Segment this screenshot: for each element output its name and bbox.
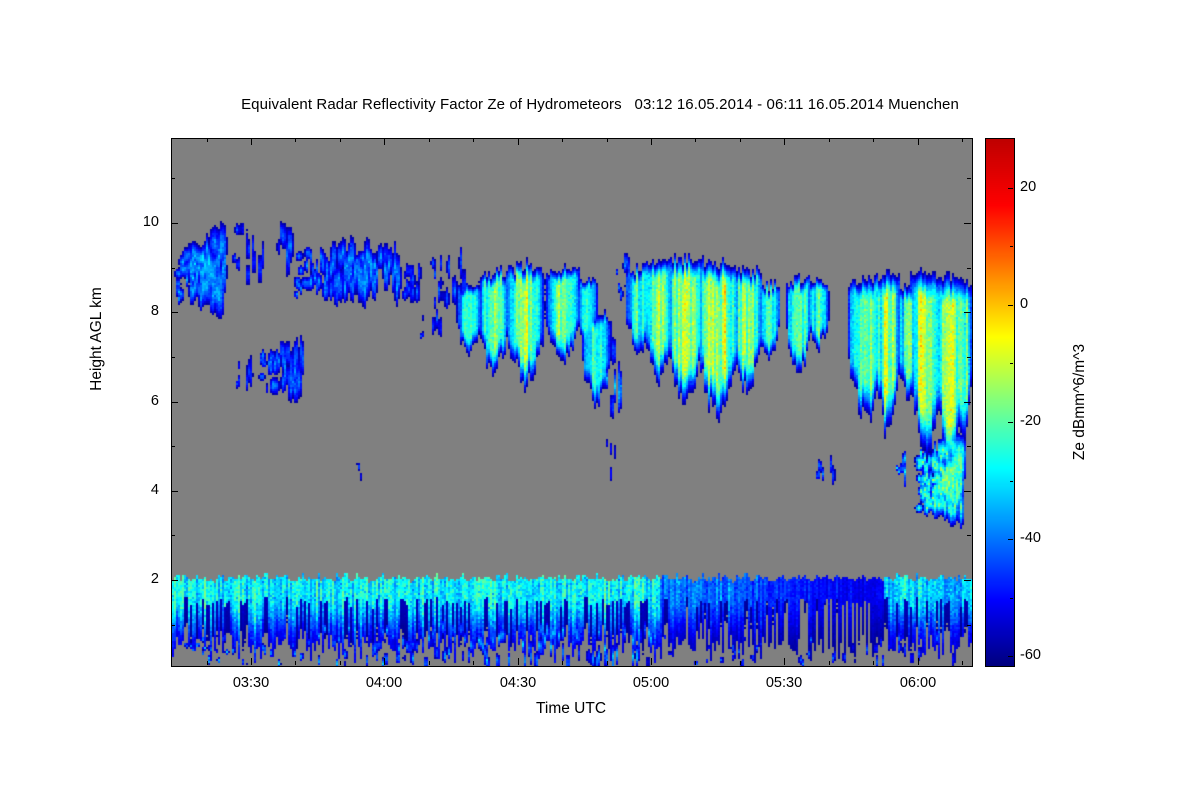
x-tick-major-top (251, 138, 252, 145)
colorbar-gradient (986, 139, 1014, 666)
colorbar-tick-minor (1010, 598, 1013, 599)
x-tick-major (784, 658, 785, 665)
y-tick-minor (171, 446, 175, 447)
y-tick-major (171, 223, 178, 224)
x-tick-major (918, 658, 919, 665)
x-tick-minor (607, 661, 608, 665)
x-tick-label: 04:30 (473, 675, 563, 691)
colorbar-label: Ze dBmm^6/m^3 (1071, 272, 1089, 532)
y-tick-minor-right (967, 446, 971, 447)
x-tick-minor (340, 661, 341, 665)
x-tick-major (384, 658, 385, 665)
x-tick-minor-top (473, 138, 474, 142)
x-tick-minor (962, 661, 963, 665)
x-tick-label: 05:30 (739, 675, 829, 691)
x-tick-minor-top (962, 138, 963, 142)
x-tick-minor (429, 661, 430, 665)
x-tick-label: 04:00 (339, 675, 429, 691)
radar-heatmap-canvas (172, 139, 972, 666)
x-tick-minor-top (429, 138, 430, 142)
y-tick-label: 2 (119, 571, 159, 587)
colorbar-tick-label: 0 (1020, 296, 1028, 312)
colorbar-tick-label: -40 (1020, 530, 1041, 546)
x-tick-major-top (384, 138, 385, 145)
x-tick-minor-top (562, 138, 563, 142)
colorbar (985, 138, 1015, 667)
colorbar-tick (1008, 188, 1013, 189)
x-tick-minor (873, 661, 874, 665)
y-tick-minor (171, 178, 175, 179)
x-tick-major-top (784, 138, 785, 145)
x-tick-major-top (651, 138, 652, 145)
x-tick-minor (740, 661, 741, 665)
colorbar-tick-minor (1010, 481, 1013, 482)
x-tick-minor (562, 661, 563, 665)
y-tick-major-right (964, 312, 971, 313)
colorbar-tick (1008, 305, 1013, 306)
y-tick-major-right (964, 580, 971, 581)
colorbar-tick (1008, 539, 1013, 540)
x-tick-major-top (918, 138, 919, 145)
x-tick-major (651, 658, 652, 665)
x-tick-minor-top (340, 138, 341, 142)
x-tick-minor (295, 661, 296, 665)
y-tick-label: 6 (119, 393, 159, 409)
colorbar-tick-minor (1010, 363, 1013, 364)
y-tick-minor (171, 268, 175, 269)
y-tick-minor-right (967, 535, 971, 536)
x-tick-minor-top (829, 138, 830, 142)
y-tick-minor-right (967, 178, 971, 179)
x-tick-minor-top (295, 138, 296, 142)
y-tick-major (171, 491, 178, 492)
x-tick-label: 03:30 (206, 675, 296, 691)
y-tick-minor-right (967, 268, 971, 269)
x-tick-minor-top (607, 138, 608, 142)
colorbar-tick-label: 20 (1020, 179, 1036, 195)
y-tick-major-right (964, 223, 971, 224)
colorbar-tick-label: -20 (1020, 413, 1041, 429)
chart-title: Equivalent Radar Reflectivity Factor Ze … (0, 96, 1200, 113)
x-tick-minor-top (873, 138, 874, 142)
colorbar-tick (1008, 656, 1013, 657)
y-tick-major-right (964, 402, 971, 403)
x-tick-major (251, 658, 252, 665)
x-tick-minor-top (740, 138, 741, 142)
colorbar-tick-minor (1010, 246, 1013, 247)
y-tick-label: 8 (119, 303, 159, 319)
x-tick-label: 06:00 (873, 675, 963, 691)
y-tick-major-right (964, 491, 971, 492)
y-tick-label: 10 (119, 214, 159, 230)
x-tick-label: 05:00 (606, 675, 696, 691)
x-tick-major (518, 658, 519, 665)
x-tick-minor (695, 661, 696, 665)
y-tick-major (171, 312, 178, 313)
x-tick-minor (829, 661, 830, 665)
radar-figure: Equivalent Radar Reflectivity Factor Ze … (0, 0, 1200, 800)
x-tick-minor (473, 661, 474, 665)
y-tick-major (171, 402, 178, 403)
y-axis-label: Height AGL km (88, 239, 106, 439)
y-tick-minor (171, 625, 175, 626)
colorbar-tick-label: -60 (1020, 647, 1041, 663)
y-tick-minor (171, 535, 175, 536)
x-tick-minor-top (207, 138, 208, 142)
x-axis-label: Time UTC (171, 700, 971, 718)
x-tick-minor (207, 661, 208, 665)
y-tick-major (171, 580, 178, 581)
x-tick-major-top (518, 138, 519, 145)
plot-area (171, 138, 973, 667)
y-tick-minor-right (967, 625, 971, 626)
colorbar-tick (1008, 422, 1013, 423)
y-tick-label: 4 (119, 482, 159, 498)
x-tick-minor-top (695, 138, 696, 142)
y-tick-minor (171, 357, 175, 358)
y-tick-minor-right (967, 357, 971, 358)
